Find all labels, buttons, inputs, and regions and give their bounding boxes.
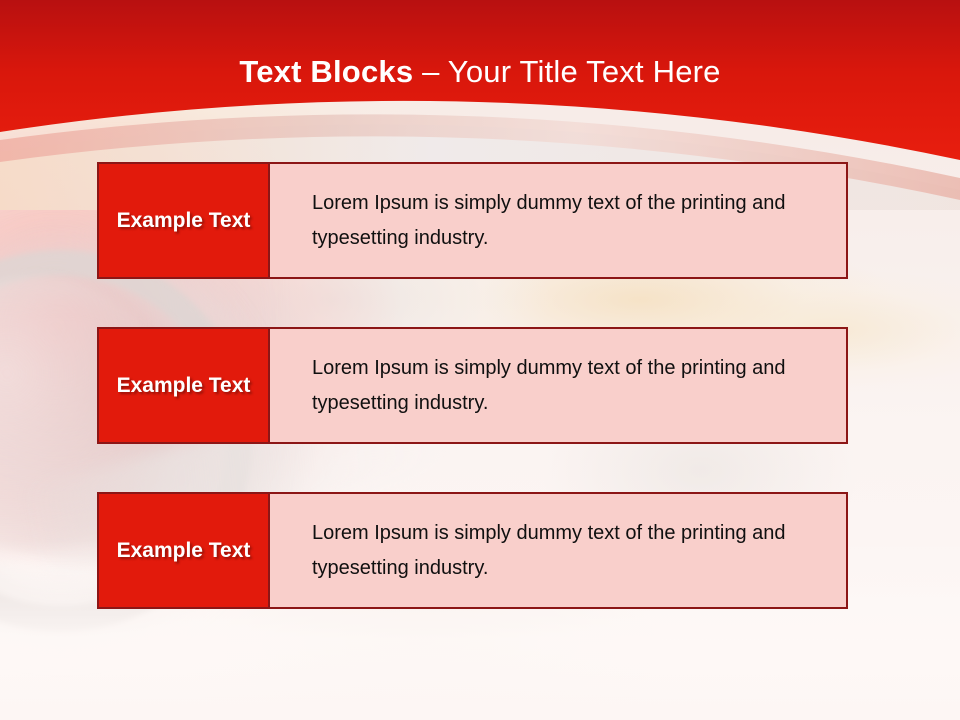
text-block-body[interactable]: Lorem Ipsum is simply dummy text of the … xyxy=(270,164,846,277)
text-block[interactable]: Example Text Lorem Ipsum is simply dummy… xyxy=(97,327,848,444)
page-title-bold: Text Blocks xyxy=(239,54,413,89)
slide-canvas: Text Blocks – Your Title Text Here Examp… xyxy=(0,0,960,720)
text-block-body[interactable]: Lorem Ipsum is simply dummy text of the … xyxy=(270,494,846,607)
page-title: Text Blocks – Your Title Text Here xyxy=(0,52,960,92)
page-title-light: Your Title Text Here xyxy=(448,54,721,89)
text-block[interactable]: Example Text Lorem Ipsum is simply dummy… xyxy=(97,162,848,279)
text-block[interactable]: Example Text Lorem Ipsum is simply dummy… xyxy=(97,492,848,609)
page-title-separator: – xyxy=(413,54,448,89)
text-block-label[interactable]: Example Text xyxy=(99,494,270,607)
text-block-label[interactable]: Example Text xyxy=(99,164,270,277)
text-block-body[interactable]: Lorem Ipsum is simply dummy text of the … xyxy=(270,329,846,442)
text-block-label[interactable]: Example Text xyxy=(99,329,270,442)
text-blocks-group: Example Text Lorem Ipsum is simply dummy… xyxy=(97,162,848,609)
